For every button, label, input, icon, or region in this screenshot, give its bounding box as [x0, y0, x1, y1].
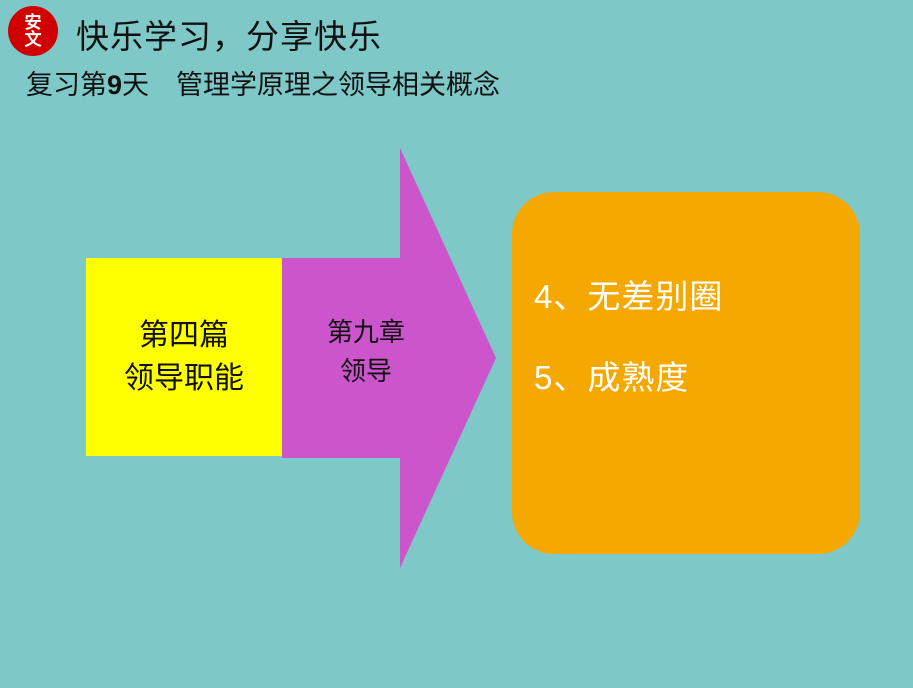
flow-right-item-2: 5、成熟度 — [534, 357, 860, 400]
flow-left-box-line2: 领导职能 — [124, 357, 244, 401]
flow-arrow-label: 第九章 领导 — [278, 313, 454, 391]
page-subtitle: 复习第9天 管理学原理之领导相关概念 — [26, 63, 500, 102]
logo-badge-line1: 安 — [25, 14, 42, 31]
slide-canvas: 安 文 快乐学习，分享快乐 复习第9天 管理学原理之领导相关概念 第四篇 领导职… — [0, 0, 913, 688]
page-title: 快乐学习，分享快乐 — [76, 10, 382, 58]
flow-arrow-label-line2: 领导 — [278, 352, 454, 391]
logo-badge-line2: 文 — [25, 31, 42, 48]
flow-left-box-line1: 第四篇 — [139, 314, 229, 358]
logo-badge: 安 文 — [8, 6, 58, 56]
flow-left-box: 第四篇 领导职能 — [86, 258, 282, 456]
flow-arrow: 第九章 领导 — [278, 148, 500, 568]
flow-right-item-1: 4、无差别圈 — [534, 276, 860, 319]
flow-right-box: 4、无差别圈 5、成熟度 — [512, 192, 860, 554]
flow-arrow-label-line1: 第九章 — [278, 313, 454, 352]
